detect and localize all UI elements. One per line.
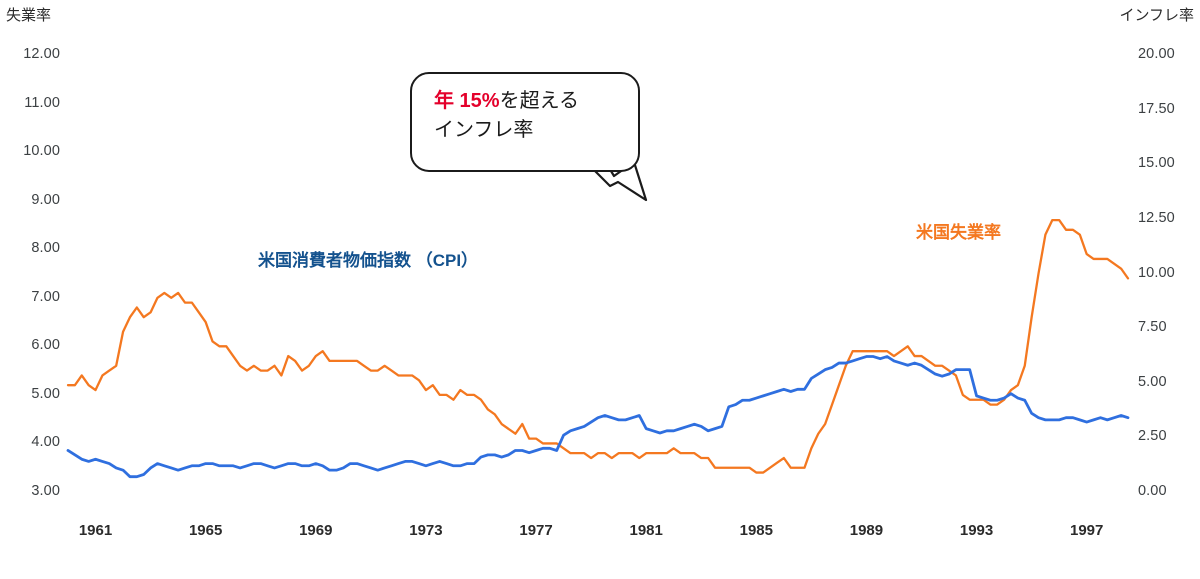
unemployment-series-label: 米国失業率 xyxy=(916,222,1001,244)
callout-box: 年 15%を超える インフレ率 xyxy=(410,72,640,172)
callout-text: 年 15%を超える インフレ率 xyxy=(434,87,630,145)
callout-highlight: 年 15% xyxy=(434,90,500,112)
cpi-line xyxy=(68,357,1128,477)
cpi-series-label: 米国消費者物価指数 （CPI） xyxy=(258,250,478,272)
unemployment-line xyxy=(68,220,1128,472)
chart-canvas: 失業率 インフレ率 12.0011.0010.009.008.007.006.0… xyxy=(0,0,1200,579)
